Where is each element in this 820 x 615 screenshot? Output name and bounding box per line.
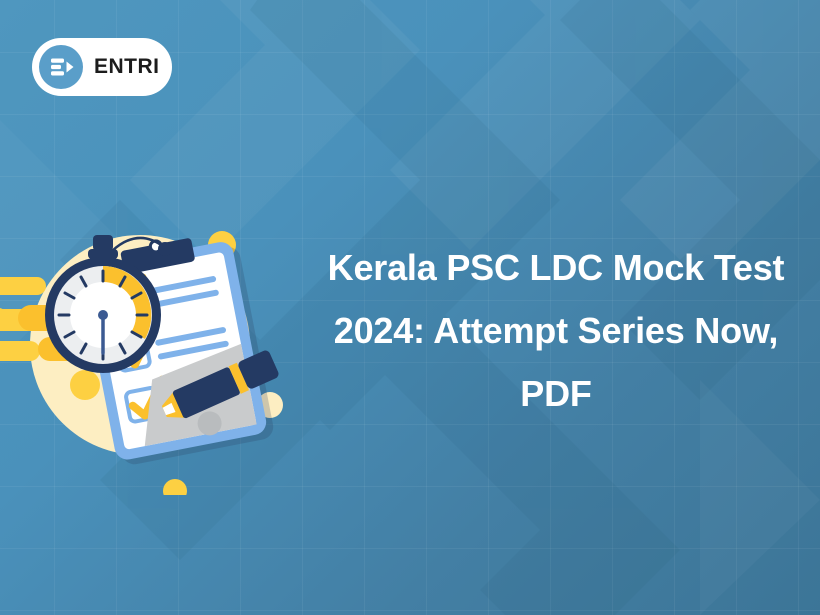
entri-wordmark: ENTRI [94, 55, 160, 79]
page-title: Kerala PSC LDC Mock Test 2024: Attempt S… [302, 236, 810, 425]
blog-banner: ENTRI [0, 0, 820, 615]
yellow-dot-left [70, 370, 100, 400]
yellow-dot-bottom [163, 479, 187, 495]
entri-logo[interactable]: ENTRI [32, 38, 172, 96]
stopwatch-clipboard-illustration [0, 205, 320, 495]
entri-mark-icon [39, 45, 83, 89]
